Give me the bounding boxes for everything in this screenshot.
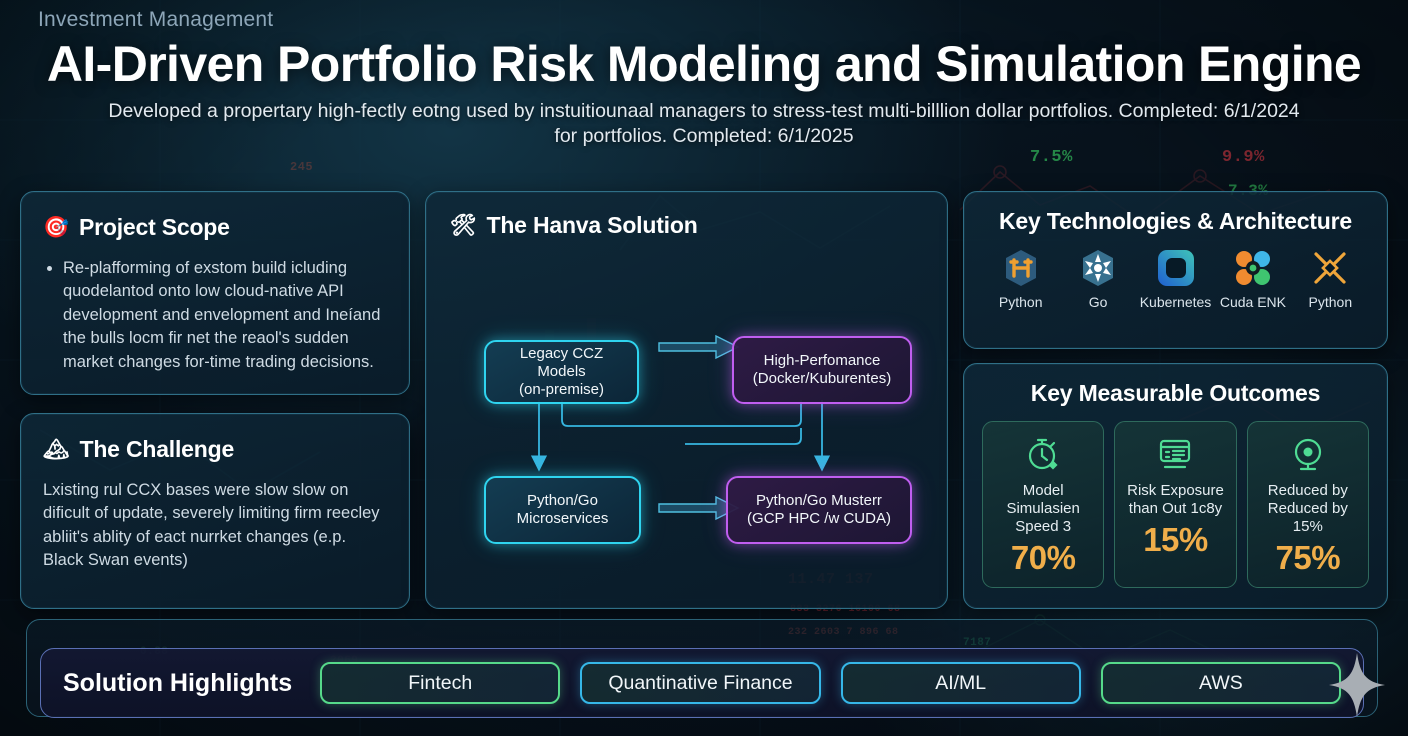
center-column: 🛠 The Hanva Solution xyxy=(425,191,948,609)
outcomes-title: Key Measurable Outcomes xyxy=(1031,380,1320,407)
challenge-title: The Challenge xyxy=(79,436,234,463)
technologies-list: Python Go xyxy=(982,247,1369,310)
solution-highlights-bar: Solution Highlights FintechQuantinative … xyxy=(40,648,1364,718)
project-scope-header: 🎯 Project Scope xyxy=(43,214,387,241)
technologies-card: Key Technologies & Architecture Python xyxy=(963,191,1388,349)
tech-item-kubernetes[interactable]: Kubernetes xyxy=(1137,247,1214,310)
outcomes-card: Key Measurable Outcomes Model Simulasien… xyxy=(963,363,1388,609)
metric-label: Risk Exposurethan Out 1ᴄ8y xyxy=(1121,482,1229,518)
diagram-node-highperf-label: High-Perfomance(Docker/Kuburentes) xyxy=(753,352,891,389)
cuda-dots-icon xyxy=(1214,247,1291,289)
diagram-node-microservices[interactable]: Python/GoMicroservices xyxy=(484,476,641,544)
diagram-node-hpc-label: Python/Go Musterr(GCP HPC /w CUDA) xyxy=(747,492,891,529)
solution-highlights-title: Solution Highlights xyxy=(63,669,292,698)
diagram-node-legacy-label: Legacy CCZ Models(on-premise) xyxy=(494,345,629,400)
project-scope-card: 🎯 Project Scope Re-plafforming of exstom… xyxy=(20,191,410,395)
subtitle-line-1: Developed a propertary high-fectly eotng… xyxy=(108,100,1299,122)
outcomes-metric-list: Model SimulasienSpeed 3 70% Risk Expos xyxy=(982,421,1369,588)
diagram-node-highperf[interactable]: High-Perfomance(Docker/Kuburentes) xyxy=(732,336,912,404)
diagram-node-microservices-label: Python/GoMicroservices xyxy=(517,492,609,529)
server-monitor-icon xyxy=(1121,434,1229,474)
challenge-text: Lxisting rul CCX bases were slow slow on… xyxy=(43,479,387,573)
challenge-card: 🏔 The Challenge Lxisting rul CCX bases w… xyxy=(20,413,410,609)
subtitle-line-2: for portfolios. Completed: 6/1/2025 xyxy=(554,125,853,147)
left-column: 🎯 Project Scope Re-plafforming of exstom… xyxy=(20,191,410,609)
target-circle-icon xyxy=(1254,434,1362,474)
diagram-node-hpc[interactable]: Python/Go Musterr(GCP HPC /w CUDA) xyxy=(726,476,912,544)
python-cross-icon xyxy=(1292,247,1369,289)
highlight-chip[interactable]: Fintech xyxy=(320,662,560,704)
kubernetes-square-icon xyxy=(1137,247,1214,289)
highlight-chip[interactable]: AWS xyxy=(1101,662,1341,704)
main-content: 🎯 Project Scope Re-plafforming of exstom… xyxy=(20,191,1388,609)
metric-value: 70% xyxy=(989,539,1097,577)
page-subtitle: Developed a propertary high-fectly eotng… xyxy=(38,99,1370,150)
challenge-header: 🏔 The Challenge xyxy=(43,436,387,463)
tech-item-python-hadoop[interactable]: Python xyxy=(982,247,1059,310)
page-title: AI-Driven Portfolio Risk Modeling and Si… xyxy=(38,38,1370,91)
metric-label: Reduced byReduced by 15% xyxy=(1254,482,1362,536)
tech-item-label: Python xyxy=(982,294,1059,310)
tech-item-cuda[interactable]: Cuda ENK xyxy=(1214,247,1291,310)
outcomes-header: Key Measurable Outcomes xyxy=(982,380,1369,407)
sparkle-icon xyxy=(1326,650,1388,720)
mountain-icon: 🏔 xyxy=(43,439,69,460)
project-scope-title: Project Scope xyxy=(79,214,230,241)
solution-card: 🛠 The Hanva Solution xyxy=(425,191,948,609)
tech-item-label: Cuda ENK xyxy=(1214,294,1291,310)
project-scope-bullets: Re-plafforming of exstom build icluding … xyxy=(43,257,387,374)
go-snowflake-icon xyxy=(1059,247,1136,289)
metric-card-risk[interactable]: Risk Exposurethan Out 1ᴄ8y 15% xyxy=(1114,421,1236,588)
technologies-title: Key Technologies & Architecture xyxy=(999,208,1352,235)
technologies-header: Key Technologies & Architecture xyxy=(982,208,1369,235)
tech-item-label: Go xyxy=(1059,294,1136,310)
tech-item-python-cross[interactable]: Python xyxy=(1292,247,1369,310)
highlight-chip[interactable]: Quantinative Finance xyxy=(580,662,820,704)
background-number: 7.5% xyxy=(1030,148,1073,167)
metric-card-reduced[interactable]: Reduced byReduced by 15% 75% xyxy=(1247,421,1369,588)
metric-label: Model SimulasienSpeed 3 xyxy=(989,482,1097,536)
diagram-node-legacy[interactable]: Legacy CCZ Models(on-premise) xyxy=(484,340,639,404)
background-number: 245 xyxy=(290,160,313,174)
background-number: 9.9% xyxy=(1222,148,1265,167)
target-icon: 🎯 xyxy=(43,217,69,238)
metric-card-speed[interactable]: Model SimulasienSpeed 3 70% xyxy=(982,421,1104,588)
list-item: Re-plafforming of exstom build icluding … xyxy=(63,257,387,374)
eyebrow-label: Investment Management xyxy=(38,8,1370,32)
tech-item-label: Python xyxy=(1292,294,1369,310)
stopwatch-icon xyxy=(989,434,1097,474)
python-hadoop-icon xyxy=(982,247,1059,289)
highlight-chip-list: FintechQuantinative FinanceAI/MLAWS xyxy=(320,662,1341,704)
tech-item-label: Kubernetes xyxy=(1137,294,1214,310)
right-column: Key Technologies & Architecture Python xyxy=(963,191,1388,609)
metric-value: 15% xyxy=(1121,521,1229,559)
tech-item-go[interactable]: Go xyxy=(1059,247,1136,310)
page-header: Investment Management AI-Driven Portfoli… xyxy=(0,8,1408,149)
highlight-chip[interactable]: AI/ML xyxy=(841,662,1081,704)
metric-value: 75% xyxy=(1254,539,1362,577)
